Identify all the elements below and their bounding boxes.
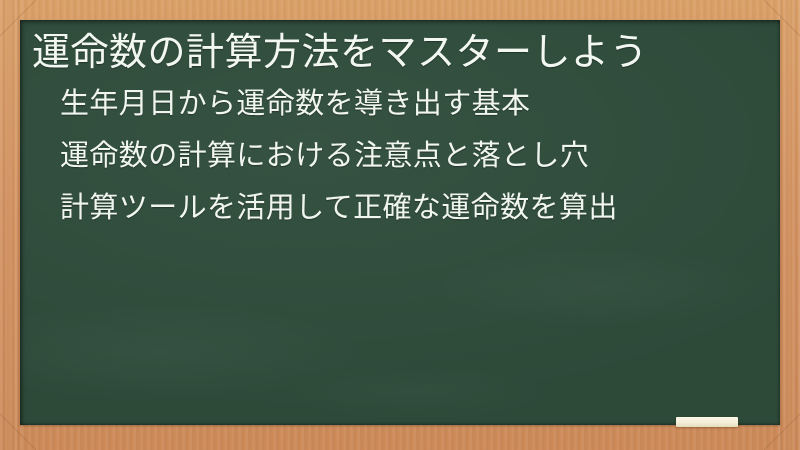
slide-title: 運命数の計算方法をマスターしよう: [32, 30, 756, 75]
chalkboard-slide: 運命数の計算方法をマスターしよう 生年月日から運命数を導き出す基本 運命数の計算…: [0, 0, 800, 450]
list-item: 運命数の計算における注意点と落とし穴: [60, 141, 756, 170]
list-item: 生年月日から運命数を導き出す基本: [60, 89, 756, 118]
list-item: 計算ツールを活用して正確な運命数を算出: [60, 193, 756, 222]
board-content: 運命数の計算方法をマスターしよう 生年月日から運命数を導き出す基本 運命数の計算…: [20, 20, 780, 425]
frame-grain-left: [0, 0, 22, 450]
chalkboard-surface: 運命数の計算方法をマスターしよう 生年月日から運命数を導き出す基本 運命数の計算…: [20, 20, 780, 425]
frame-grain-right: [778, 0, 800, 450]
bullet-list: 生年月日から運命数を導き出す基本 運命数の計算における注意点と落とし穴 計算ツー…: [32, 89, 756, 222]
chalk-stick: [676, 417, 738, 427]
